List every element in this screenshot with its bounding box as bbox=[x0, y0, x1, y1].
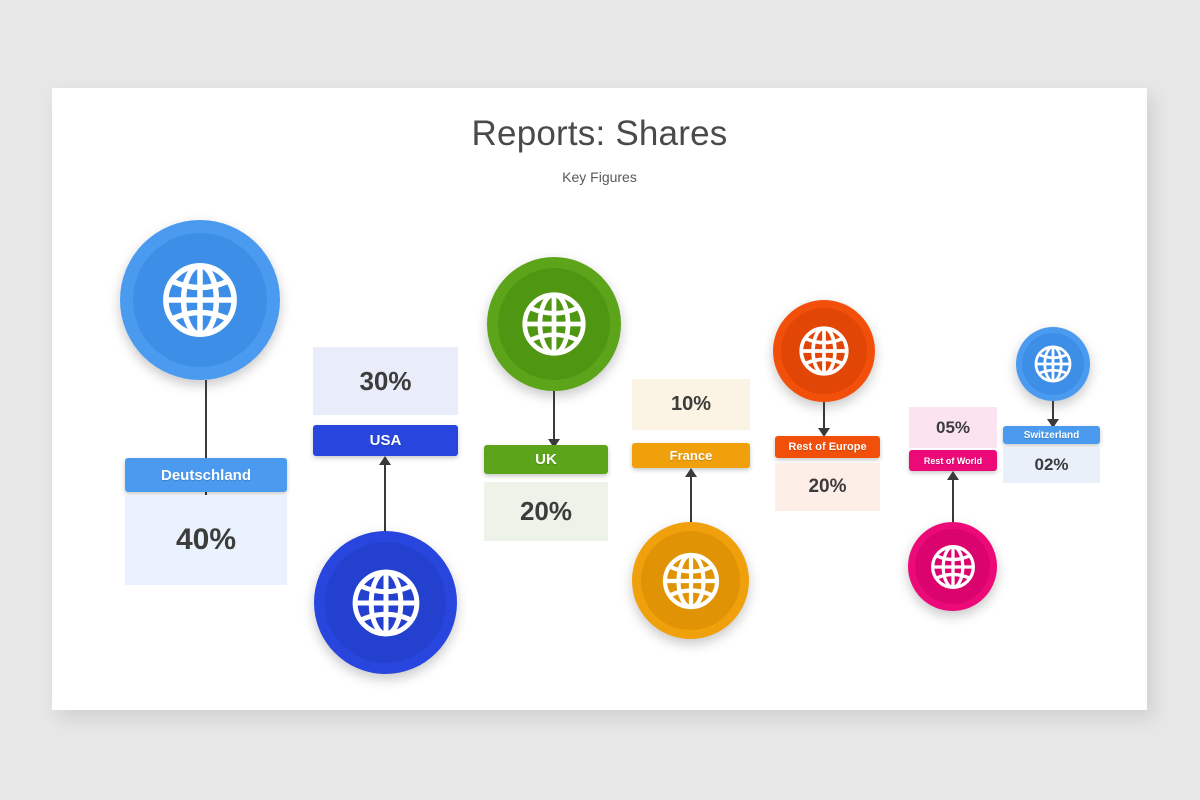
value-box-switzerland: 02% bbox=[1003, 447, 1100, 483]
label-text: Rest of World bbox=[924, 456, 982, 466]
globe-badge-usa[interactable] bbox=[314, 531, 457, 674]
globe-icon bbox=[1032, 343, 1074, 385]
globe-icon bbox=[928, 542, 978, 592]
connector-uk bbox=[553, 391, 555, 439]
connector-rest-of-europe bbox=[823, 402, 825, 428]
label-text: France bbox=[670, 448, 713, 463]
value-text: 10% bbox=[671, 393, 711, 416]
value-box-rest-of-world: 05% bbox=[909, 407, 997, 448]
value-box-deutschland: 40% bbox=[125, 495, 287, 585]
value-box-france: 10% bbox=[632, 379, 750, 430]
value-text: 40% bbox=[176, 523, 236, 557]
globe-icon bbox=[518, 288, 590, 360]
label-box-deutschland[interactable]: Deutschland bbox=[125, 458, 287, 492]
globe-badge-france[interactable] bbox=[632, 522, 749, 639]
globe-icon bbox=[348, 565, 424, 641]
globe-icon bbox=[158, 258, 242, 342]
label-text: UK bbox=[535, 451, 557, 468]
arrow-up-usa bbox=[379, 456, 391, 465]
label-text: Deutschland bbox=[161, 467, 251, 484]
globe-icon bbox=[796, 323, 852, 379]
page-subtitle: Key Figures bbox=[52, 169, 1147, 185]
value-box-usa: 30% bbox=[313, 347, 458, 415]
page-title: Reports: Shares bbox=[52, 114, 1147, 154]
label-box-france[interactable]: France bbox=[632, 443, 750, 468]
globe-badge-rest-of-world[interactable] bbox=[908, 522, 997, 611]
label-box-rest-of-world[interactable]: Rest of World bbox=[909, 450, 997, 471]
label-box-usa[interactable]: USA bbox=[313, 425, 458, 456]
arrow-up-france bbox=[685, 468, 697, 477]
label-text: USA bbox=[370, 432, 402, 449]
value-text: 30% bbox=[359, 366, 411, 397]
label-text: Switzerland bbox=[1024, 430, 1080, 441]
label-box-rest-of-europe[interactable]: Rest of Europe bbox=[775, 436, 880, 458]
arrow-up-rest-of-world bbox=[947, 471, 959, 480]
connector-switzerland bbox=[1052, 401, 1054, 421]
label-text: Rest of Europe bbox=[788, 441, 866, 453]
slide-canvas: Reports: Shares Key Figures Deutschland bbox=[52, 88, 1147, 710]
label-box-switzerland[interactable]: Switzerland bbox=[1003, 426, 1100, 444]
globe-badge-rest-of-europe[interactable] bbox=[773, 300, 875, 402]
value-text: 05% bbox=[936, 418, 970, 438]
value-box-rest-of-europe: 20% bbox=[775, 463, 880, 511]
globe-badge-deutschland[interactable] bbox=[120, 220, 280, 380]
globe-icon bbox=[659, 549, 723, 613]
value-text: 20% bbox=[520, 496, 572, 527]
value-text: 02% bbox=[1034, 455, 1068, 475]
value-box-uk: 20% bbox=[484, 482, 608, 541]
value-text: 20% bbox=[808, 476, 846, 498]
globe-badge-switzerland[interactable] bbox=[1016, 327, 1090, 401]
globe-badge-uk[interactable] bbox=[487, 257, 621, 391]
label-box-uk[interactable]: UK bbox=[484, 445, 608, 474]
